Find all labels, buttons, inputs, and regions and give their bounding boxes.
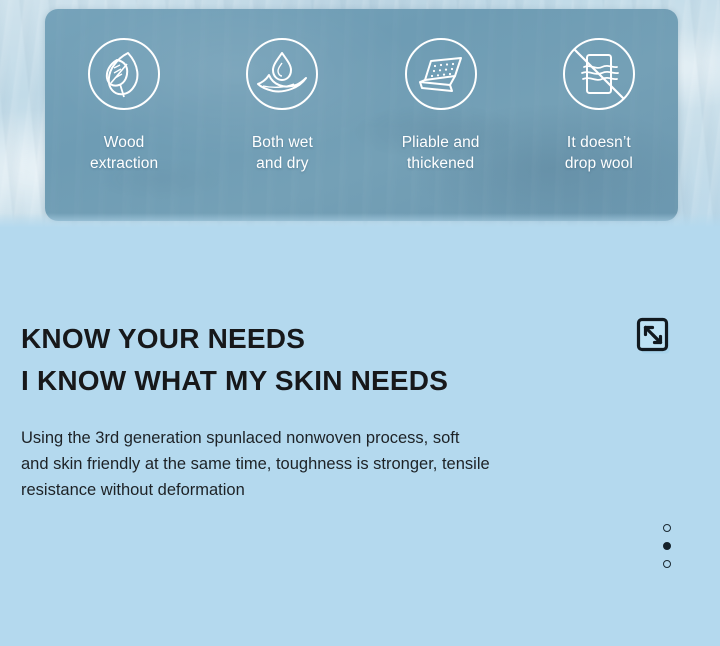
feature-item-wood-extraction[interactable]: Wood extraction xyxy=(49,31,199,174)
expand-arrows-icon xyxy=(634,316,674,358)
pagination-dots xyxy=(663,524,671,568)
feature-label-line1: Pliable and xyxy=(402,134,480,151)
feature-list: Wood extraction Both wet an xyxy=(45,9,678,221)
water-drop-on-fabric-icon xyxy=(239,31,325,117)
feature-item-pliable-and-thickened[interactable]: Pliable and thickened xyxy=(366,31,516,174)
feature-label-line2: drop wool xyxy=(565,155,633,172)
stacked-fabric-sheets-icon xyxy=(398,31,484,117)
feature-item-both-wet-and-dry[interactable]: Both wet and dry xyxy=(207,31,357,174)
description-text: Using the 3rd generation spunlaced nonwo… xyxy=(21,425,491,503)
feature-label-line2: and dry xyxy=(256,155,308,172)
feature-card: Wood extraction Both wet an xyxy=(45,9,678,221)
content-section: KNOW YOUR NEEDS I KNOW WHAT MY SKIN NEED… xyxy=(0,229,720,646)
feature-label-line1: Both wet xyxy=(252,134,313,151)
pagination-dot-3[interactable] xyxy=(663,560,671,568)
hero-bottom-fade xyxy=(0,213,720,229)
feature-label: Wood extraction xyxy=(90,132,158,174)
feature-label-line1: Wood xyxy=(104,134,145,151)
pagination-dot-1[interactable] xyxy=(663,524,671,532)
feature-item-no-lint[interactable]: It doesn’t drop wool xyxy=(524,31,674,174)
feature-label: It doesn’t drop wool xyxy=(565,132,633,174)
feature-label-line2: extraction xyxy=(90,155,158,172)
leaf-icon xyxy=(81,31,167,117)
page-title-primary: KNOW YOUR NEEDS xyxy=(21,323,305,355)
expand-button[interactable] xyxy=(634,316,674,358)
feature-label-line1: It doesn’t xyxy=(567,134,631,151)
page-title-secondary: I KNOW WHAT MY SKIN NEEDS xyxy=(21,365,448,397)
pagination-dot-2-active[interactable] xyxy=(663,542,671,550)
no-lint-icon xyxy=(556,31,642,117)
product-feature-page: Wood extraction Both wet an xyxy=(0,0,720,646)
feature-label: Pliable and thickened xyxy=(402,132,480,174)
hero-banner: Wood extraction Both wet an xyxy=(0,0,720,229)
feature-label: Both wet and dry xyxy=(252,132,313,174)
feature-label-line2: thickened xyxy=(407,155,474,172)
